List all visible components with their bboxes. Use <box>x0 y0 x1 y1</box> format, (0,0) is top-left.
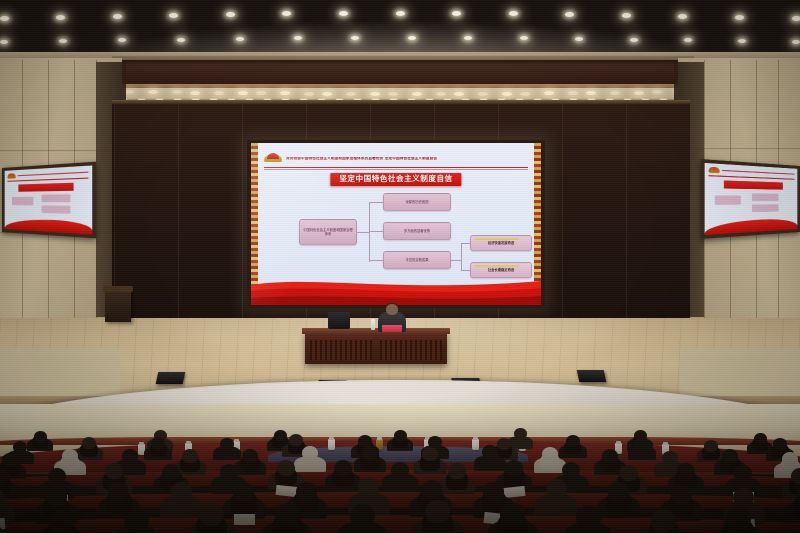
valance-light <box>190 91 200 95</box>
audience-head <box>425 500 450 523</box>
downlight <box>0 40 8 44</box>
slide-header-rule <box>264 167 528 168</box>
mini-header-line <box>722 170 794 176</box>
valance-light <box>454 92 464 96</box>
audience-head <box>2 453 18 467</box>
audience-head <box>358 435 372 447</box>
valance-light <box>370 92 380 96</box>
audience-head <box>233 482 254 501</box>
left-monitor-screen <box>5 165 93 234</box>
downlight <box>792 16 800 21</box>
audience-head <box>608 482 629 501</box>
water-bottle <box>472 439 479 450</box>
stage-floor-monitor <box>577 370 607 382</box>
audience-head <box>651 509 676 532</box>
audience-head <box>199 503 224 526</box>
downlight <box>575 37 583 41</box>
downlight <box>396 11 405 16</box>
audience-head <box>483 482 504 501</box>
audience-head <box>46 487 67 506</box>
audience-head <box>566 435 580 447</box>
highlight-bar-1 <box>475 238 519 240</box>
stage-valance <box>118 60 689 86</box>
audience-head <box>274 430 287 441</box>
connector-branch-1 <box>369 202 383 203</box>
slide-header-text: 深刻领会中国特色社会主义制度和国家治理体系的显著优势 坚定中国特色社会主义制度自… <box>286 157 437 161</box>
mini-node <box>42 205 71 213</box>
audience-head <box>576 506 601 529</box>
mini-wave <box>705 218 798 235</box>
auditorium-photo: 深刻领会中国特色社会主义制度和国家治理体系的显著优势 坚定中国特色社会主义制度自… <box>0 0 800 533</box>
back-wall-panel <box>626 104 690 319</box>
audience-head <box>162 464 180 480</box>
slide-title-banner: 坚定中国特色社会主义制度自信 <box>330 173 461 186</box>
downlight <box>236 37 244 41</box>
slide-title: 坚定中国特色社会主义制度自信 <box>339 175 452 184</box>
connector-branch3-out <box>451 260 461 261</box>
stage-floor-monitor <box>156 372 186 384</box>
audience-head <box>448 463 466 479</box>
mini-wave <box>5 218 93 234</box>
audience-head <box>350 504 375 527</box>
audience-head <box>108 482 129 501</box>
diagram-branch-2: 多方面的显著优势 <box>383 222 451 240</box>
connector-outcome-1 <box>461 243 470 244</box>
audience-head <box>733 488 754 507</box>
valance-light <box>634 91 644 95</box>
downlight <box>113 14 122 19</box>
connector-branch-3 <box>369 260 383 261</box>
audience-head <box>782 452 798 466</box>
mini-node <box>12 197 33 206</box>
audience-head <box>277 460 295 476</box>
red-document-folder <box>382 325 402 332</box>
audience-head <box>34 431 47 442</box>
party-emblem-icon <box>708 167 719 173</box>
downlight <box>622 13 631 18</box>
valance-light <box>388 92 398 96</box>
audience-head <box>394 430 407 441</box>
valance-light <box>478 92 488 96</box>
slide-diagram: 中国特色社会主义制度和国家治理体系 深厚的历史底蕴 多方面的显著优势 丰富的实践… <box>265 191 531 271</box>
connector-spine <box>369 202 370 262</box>
valance-light <box>436 92 446 96</box>
audience-head <box>677 463 695 479</box>
audience-head <box>220 464 238 480</box>
diagram-branch-3: 丰富的实践成果 <box>383 251 451 269</box>
downlight <box>0 16 9 21</box>
slide-header-rule-2 <box>264 169 528 170</box>
audience-head <box>620 465 638 481</box>
downlight <box>226 12 235 17</box>
desk-monitor[interactable] <box>328 312 350 329</box>
audience-head <box>773 438 787 450</box>
valance-light <box>502 92 512 96</box>
downlight <box>792 40 800 44</box>
audience-head <box>48 468 66 484</box>
audience-head <box>391 462 409 478</box>
water-bottle <box>328 439 335 450</box>
connector-outcome-spine <box>461 243 462 270</box>
audience-head <box>362 446 378 460</box>
valance-light <box>214 91 224 95</box>
right-wall-monitor[interactable] <box>701 159 800 239</box>
back-wall-panel <box>562 104 626 319</box>
downlight <box>408 36 416 40</box>
projection-screen[interactable]: 深刻领会中国特色社会主义制度和国家治理体系的显著优势 坚定中国特色社会主义制度自… <box>251 143 541 305</box>
audience-head <box>722 449 738 463</box>
valance-light <box>346 92 356 96</box>
audience-head <box>296 482 317 501</box>
audience-head <box>500 503 525 526</box>
mini-header-line <box>18 171 89 176</box>
audience-head <box>302 446 318 460</box>
audience-head <box>220 438 234 450</box>
downlight <box>630 38 638 42</box>
audience-head <box>662 451 678 465</box>
mini-title-banner <box>724 180 783 189</box>
back-wall-panel <box>178 104 242 319</box>
audience-head <box>428 436 442 448</box>
audience-head <box>602 449 618 463</box>
slide-header: 深刻领会中国特色社会主义制度和国家治理体系的显著优势 坚定中国特色社会主义制度自… <box>264 151 528 166</box>
audience-head <box>546 479 567 498</box>
audience-notebook <box>234 514 255 525</box>
valance-light <box>322 92 332 96</box>
connector-branch-2 <box>369 231 383 232</box>
audience-head <box>635 437 649 449</box>
connector-root-out <box>357 232 369 233</box>
left-wall-monitor[interactable] <box>2 162 96 239</box>
audience-head <box>671 485 692 504</box>
audience-head <box>542 447 558 461</box>
valance-light <box>412 92 422 96</box>
audience-head <box>482 445 498 459</box>
audience-head <box>275 503 300 526</box>
audience-head <box>497 438 511 450</box>
mini-node <box>752 193 779 201</box>
downlight <box>678 14 687 19</box>
audience-head <box>514 428 527 439</box>
right-monitor-screen <box>705 163 798 235</box>
ceiling <box>0 0 800 58</box>
valance-light <box>610 91 620 95</box>
head-table-top <box>302 328 450 334</box>
table-front-panel <box>310 340 372 360</box>
audience-head <box>334 460 352 476</box>
lectern <box>105 289 131 322</box>
slide-wave-graphic <box>251 271 541 305</box>
audience-head <box>242 449 258 463</box>
audience-notebook <box>504 486 526 498</box>
audience-head <box>171 482 192 501</box>
audience-head <box>421 480 442 499</box>
audience-head <box>62 449 78 463</box>
audience-head <box>704 440 718 452</box>
highlight-bar-2 <box>475 265 519 267</box>
downlight <box>56 15 65 20</box>
audience-head <box>734 465 752 481</box>
diagram-outcome-1: 经济快速发展奇迹 <box>470 235 532 251</box>
diagram-branch-1: 深厚的历史底蕴 <box>383 193 451 211</box>
audience-head <box>49 510 74 533</box>
mini-node <box>42 194 71 202</box>
party-emblem-icon <box>7 173 15 179</box>
water-bottle <box>371 319 375 330</box>
valance-light <box>304 92 314 96</box>
audience-head <box>182 449 198 463</box>
audience-head <box>124 509 149 532</box>
speaker-head <box>386 304 398 315</box>
diagram-root-node: 中国特色社会主义制度和国家治理体系 <box>299 219 357 245</box>
presentation-slide: 深刻领会中国特色社会主义制度和国家治理体系的显著优势 坚定中国特色社会主义制度自… <box>251 143 541 305</box>
mini-title-banner <box>18 183 74 192</box>
audience-head <box>122 449 138 463</box>
audience-head <box>754 433 767 444</box>
audience-head <box>726 507 751 530</box>
valance-light <box>520 92 530 96</box>
downlight <box>735 15 744 20</box>
downlight <box>169 13 178 18</box>
mini-node <box>715 195 741 204</box>
table-front-panel <box>380 340 442 360</box>
downlight <box>177 38 185 42</box>
mini-node <box>752 204 779 212</box>
party-emblem-icon <box>264 153 282 164</box>
